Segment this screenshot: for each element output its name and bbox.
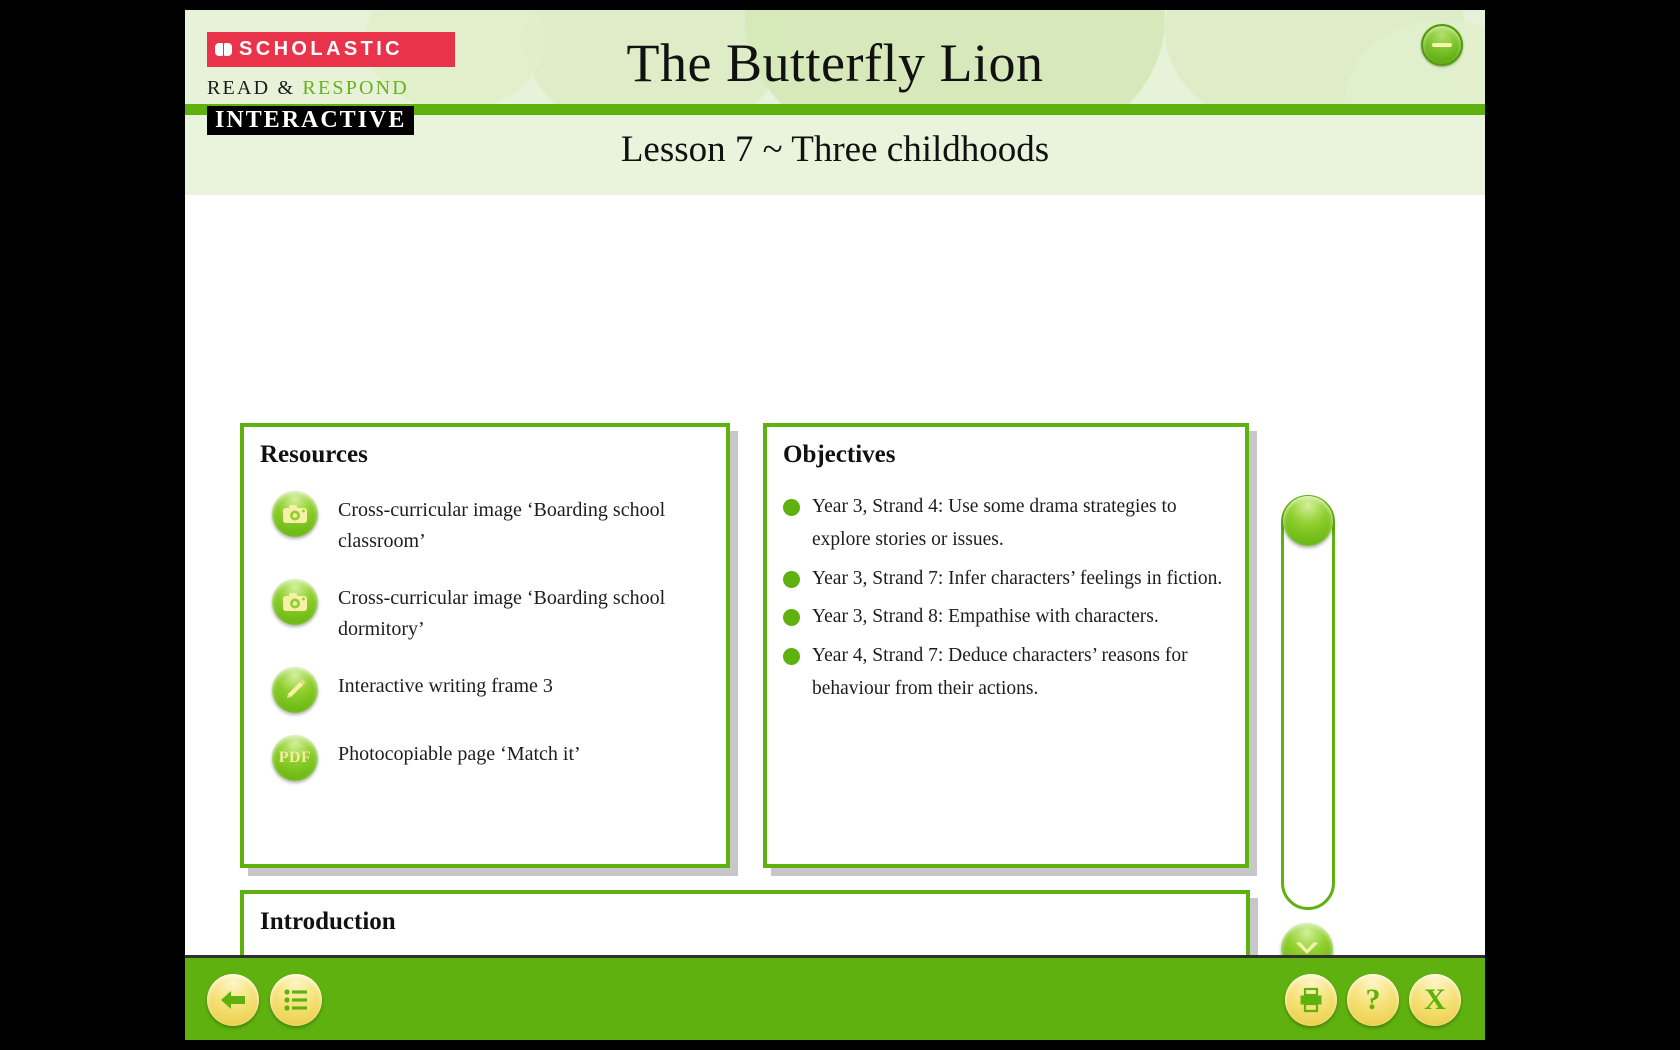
objective-item: Year 3, Strand 8: Empathise with charact… (783, 601, 1235, 634)
back-button[interactable] (207, 974, 259, 1026)
objective-text: Year 4, Strand 7: Deduce characters’ rea… (812, 640, 1235, 706)
minimise-button[interactable] (1421, 24, 1463, 66)
bullet-icon (783, 648, 800, 665)
scrollbar-thumb[interactable] (1283, 496, 1333, 546)
resources-panel: Resources Cross-curricular image ‘Boardi… (240, 423, 730, 868)
close-icon: X (1424, 985, 1446, 1015)
page-header: SCHOLASTIC READ & RESPOND INTERACTIVE Th… (185, 10, 1485, 195)
camera-icon[interactable] (272, 579, 318, 625)
objectives-panel: Objectives Year 3, Strand 4: Use some dr… (763, 423, 1249, 868)
pdf-icon[interactable]: PDF (272, 735, 318, 781)
resources-heading: Resources (244, 427, 726, 469)
objective-item: Year 3, Strand 4: Use some drama strateg… (783, 491, 1235, 557)
application-window: SCHOLASTIC READ & RESPOND INTERACTIVE Th… (185, 10, 1485, 1040)
resource-label: Interactive writing frame 3 (338, 667, 553, 702)
page-scrollbar[interactable] (1281, 495, 1335, 910)
bullet-icon (783, 609, 800, 626)
objectives-list: Year 3, Strand 4: Use some drama strateg… (767, 491, 1245, 706)
arrow-left-icon (219, 988, 247, 1012)
resources-list: Cross-curricular image ‘Boarding school … (244, 491, 726, 781)
page-body: Resources Cross-curricular image ‘Boardi… (185, 195, 1485, 955)
bullet-icon (783, 571, 800, 588)
resource-item[interactable]: Cross-curricular image ‘Boarding school … (272, 491, 726, 557)
bottom-toolbar: ? X (185, 955, 1485, 1040)
pencil-icon[interactable] (272, 667, 318, 713)
pdf-icon-label: PDF (279, 749, 312, 767)
objective-text: Year 3, Strand 8: Empathise with charact… (812, 601, 1159, 634)
objective-text: Year 3, Strand 4: Use some drama strateg… (812, 491, 1235, 557)
resource-label: Cross-curricular image ‘Boarding school … (338, 579, 668, 645)
introduction-heading: Introduction (244, 894, 1246, 936)
list-icon (283, 988, 309, 1012)
printer-icon (1298, 987, 1324, 1013)
objectives-heading: Objectives (767, 427, 1245, 469)
print-button[interactable] (1285, 974, 1337, 1026)
resource-label: Photocopiable page ‘Match it’ (338, 735, 581, 770)
objective-item: Year 3, Strand 7: Infer characters’ feel… (783, 563, 1235, 596)
resource-item[interactable]: Cross-curricular image ‘Boarding school … (272, 579, 726, 645)
resource-item[interactable]: PDF Photocopiable page ‘Match it’ (272, 735, 726, 781)
objective-item: Year 4, Strand 7: Deduce characters’ rea… (783, 640, 1235, 706)
objective-text: Year 3, Strand 7: Infer characters’ feel… (812, 563, 1222, 596)
resource-item[interactable]: Interactive writing frame 3 (272, 667, 726, 713)
page-title: The Butterfly Lion (185, 32, 1485, 94)
minus-icon (1432, 43, 1452, 47)
bullet-icon (783, 499, 800, 516)
close-button[interactable]: X (1409, 974, 1461, 1026)
resource-label: Cross-curricular image ‘Boarding school … (338, 491, 668, 557)
contents-menu-button[interactable] (270, 974, 322, 1026)
help-button[interactable]: ? (1347, 974, 1399, 1026)
camera-icon[interactable] (272, 491, 318, 537)
question-mark-icon: ? (1366, 985, 1381, 1015)
page-subtitle: Lesson 7 ~ Three childhoods (185, 128, 1485, 171)
